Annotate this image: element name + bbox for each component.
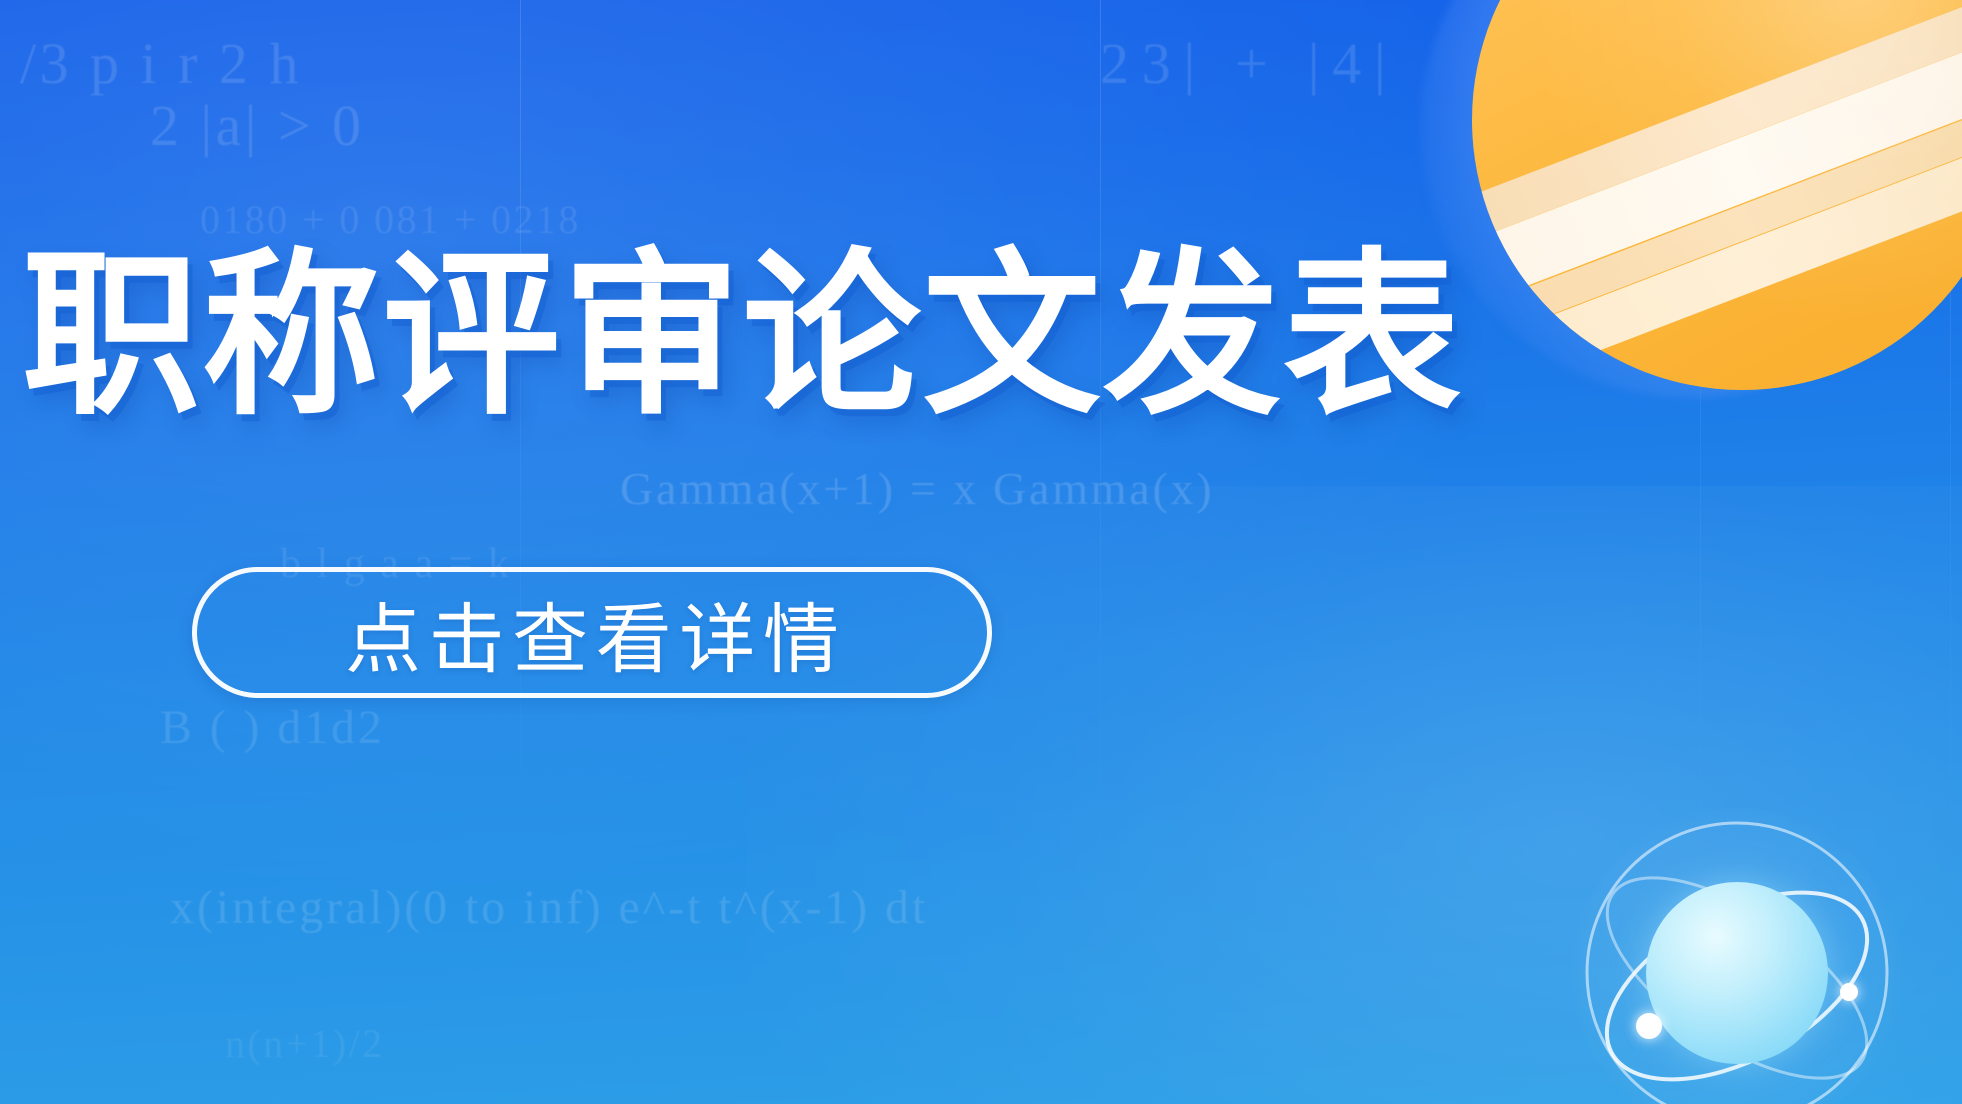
background-sheen-left [0,0,1530,883]
watermark-formula: /3 p i r 2 h [20,30,302,97]
saturn-planet-icon [1472,0,1962,410]
view-details-button[interactable]: 点击查看详情 [192,567,992,698]
atom-nucleus [1646,882,1828,1064]
electron-dot [1636,1013,1662,1039]
watermark-formula: B ( ) d1d2 [160,700,385,755]
watermark-formula: 23| + |4| [1100,30,1398,97]
watermark-formula: n(n+1)/2 [225,1020,385,1067]
hairline [520,0,521,1104]
watermark-formula: x(integral)(0 to inf) e^-t t^(x-1) dt [170,880,928,935]
watermark-formula: 2 |a| > 0 [150,92,365,159]
atom-orbit-icon [1572,808,1902,1104]
promo-banner: /3 p i r 2 h 2 |a| > 0 23| + |4| 0180 + … [0,0,1962,1104]
planet-body [1472,0,1962,390]
electron-dot [1840,983,1858,1001]
hairline [1100,0,1101,1104]
view-details-button-label: 点击查看详情 [337,578,846,688]
watermark-formula: Gamma(x+1) = x Gamma(x) [620,462,1214,515]
page-title: 职称评审论文发表 [22,242,1463,431]
